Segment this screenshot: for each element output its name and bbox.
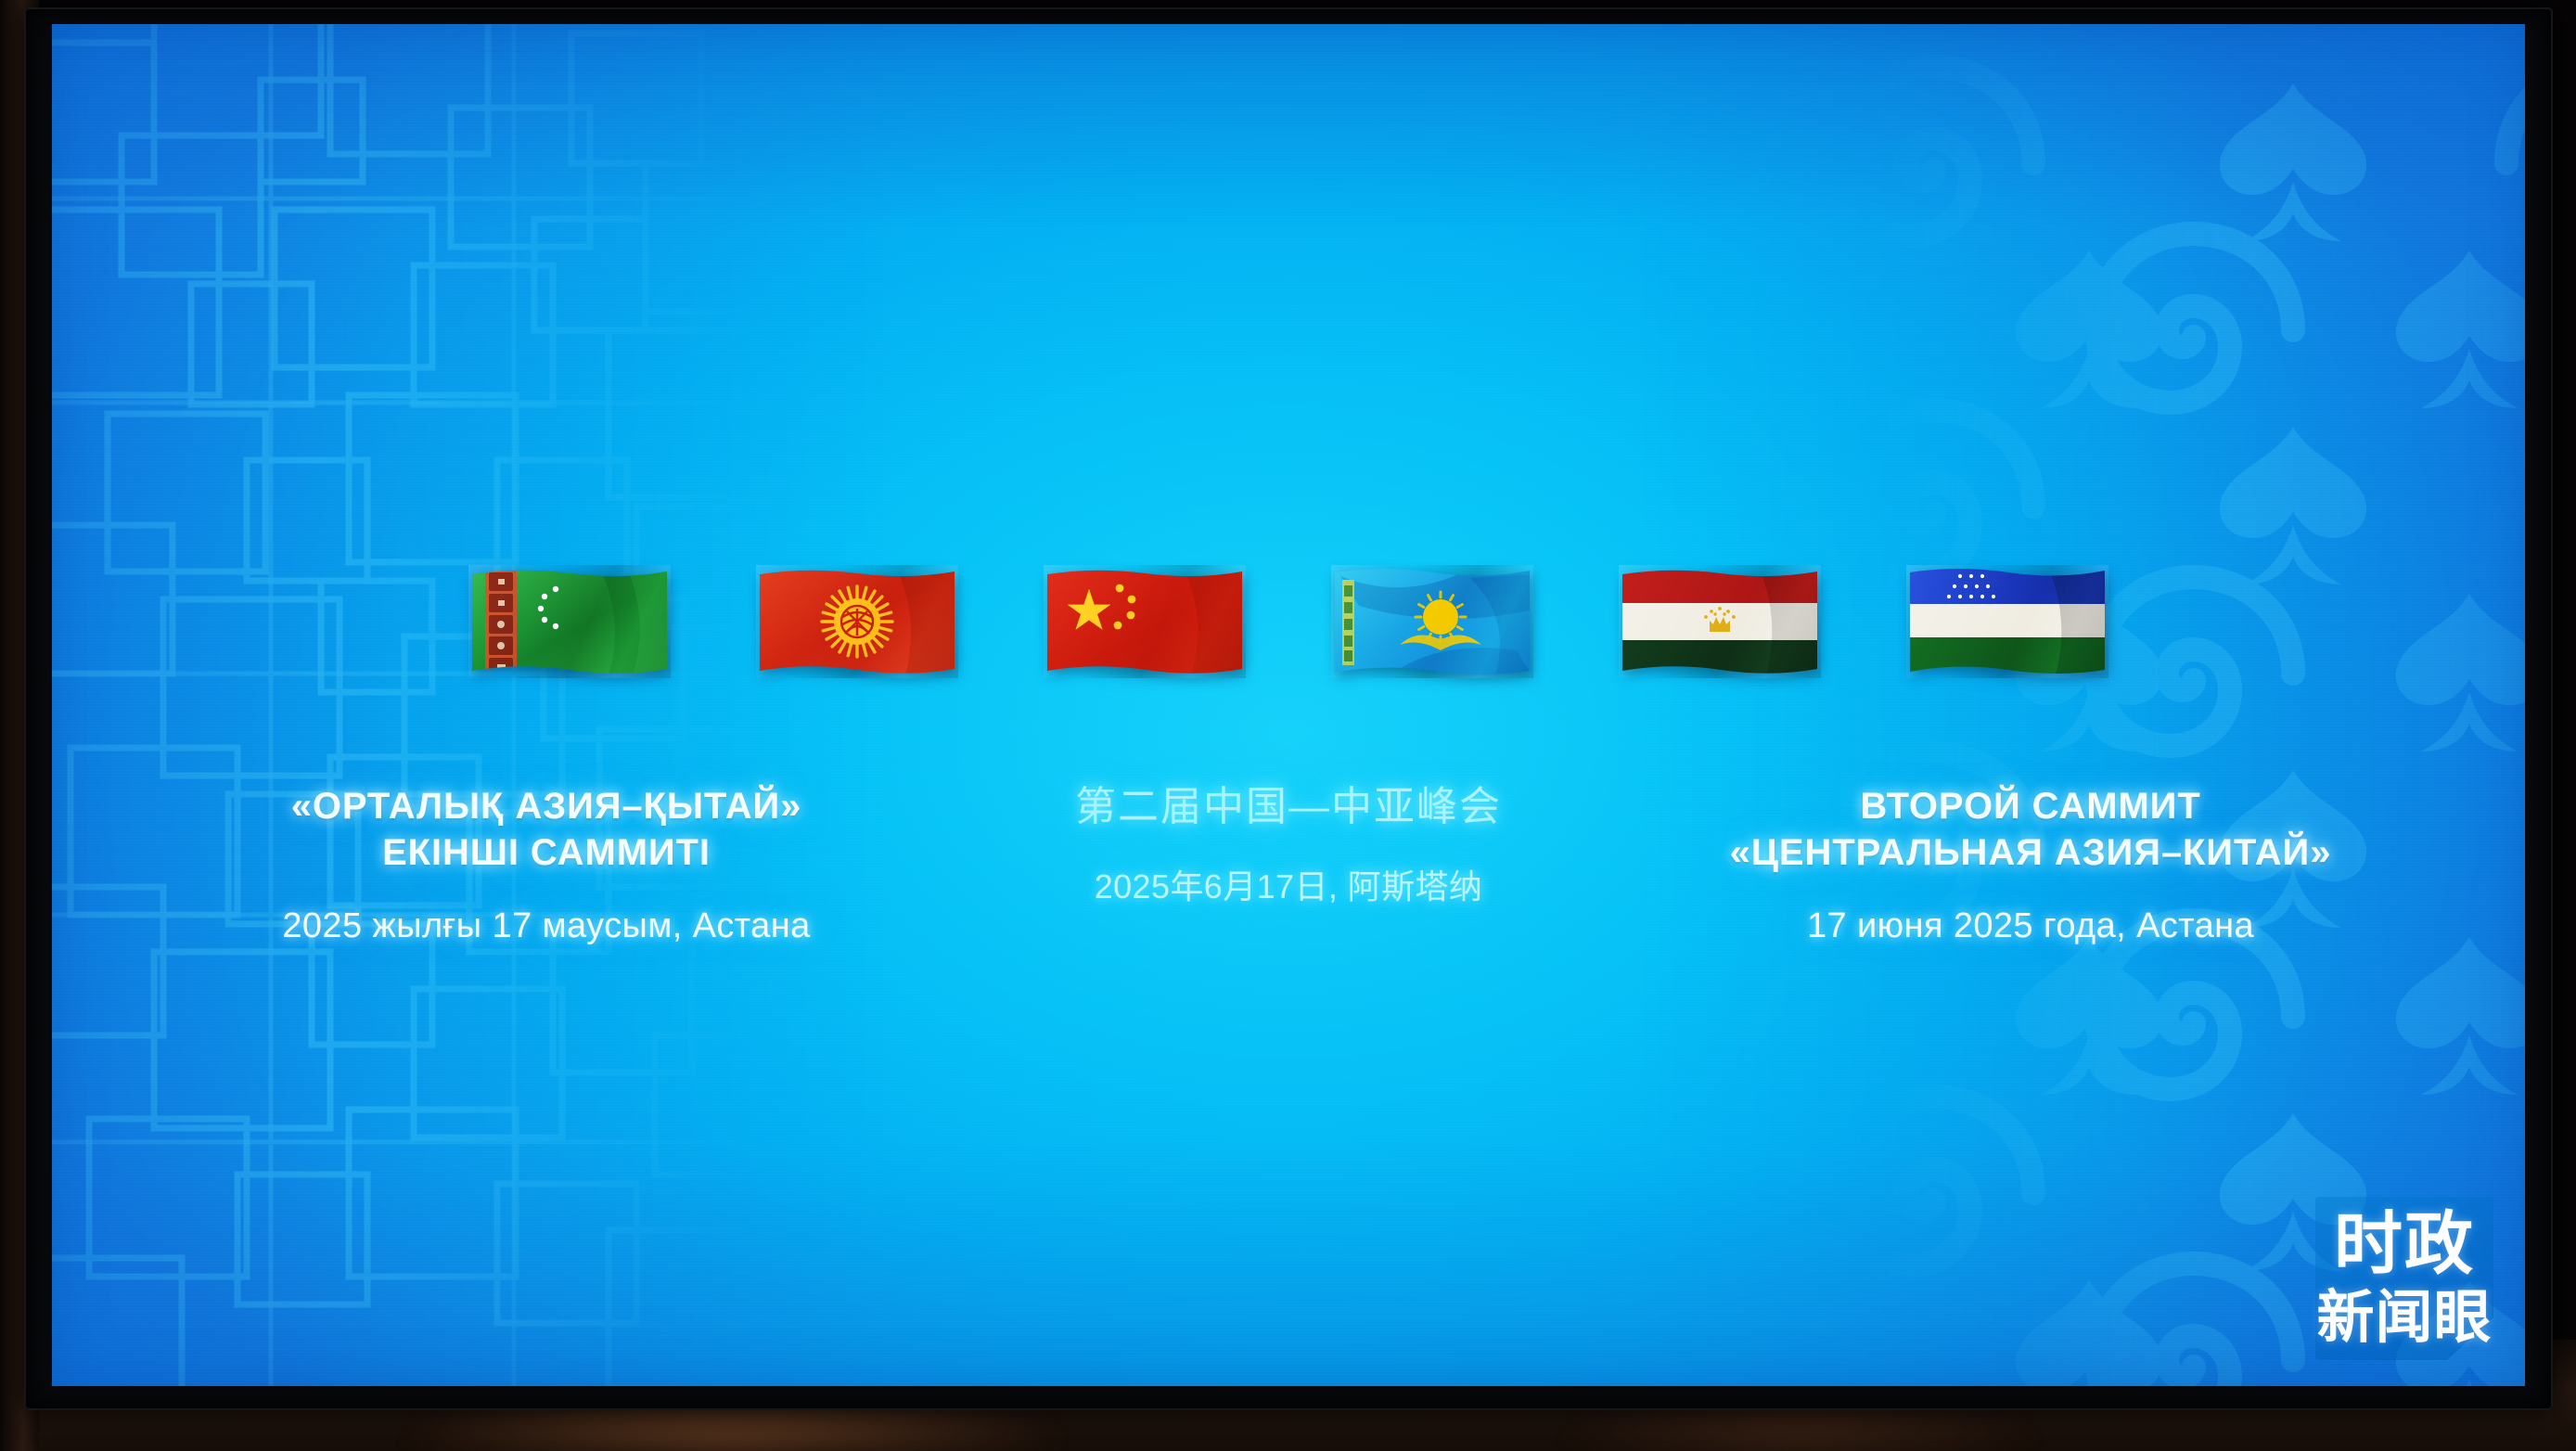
kyrgyzstan-flag [756,565,958,678]
russian-text-column: ВТОРОЙ САММИТ «ЦЕНТРАЛЬНАЯ АЗИЯ–КИТАЙ» 1… [1660,783,2402,946]
chinese-date: 2025年6月17日, 阿斯塔纳 [923,860,1654,908]
russian-title: ВТОРОЙ САММИТ «ЦЕНТРАЛЬНАЯ АЗИЯ–КИТАЙ» [1665,783,2396,877]
russian-title-line1: ВТОРОЙ САММИТ [1665,783,2396,829]
led-scanline-texture [52,24,2525,1386]
china-flag [1044,565,1246,678]
turkmenistan-flag [468,565,671,678]
summit-titles: «ОРТАЛЫҚ АЗИЯ–ҚЫТАЙ» ЕКІНШІ САММИТІ 2025… [52,783,2525,1061]
watermark-line1: 时政 [2315,1197,2493,1278]
tajikistan-flag [1619,565,1821,678]
tv-bezel: «ОРТАЛЫҚ АЗИЯ–ҚЫТАЙ» ЕКІНШІ САММИТІ 2025… [24,7,2553,1410]
chinese-title: 第二届中国—中亚峰会 [923,783,1654,832]
russian-date: 17 июня 2025 года, Астана [1665,906,2396,946]
chinese-text-column: 第二届中国—中亚峰会 2025年6月17日, 阿斯塔纳 [917,783,1660,908]
uzbekistan-flag [1906,565,2108,678]
chinese-title-line1: 第二届中国—中亚峰会 [923,783,1654,832]
room-photo: «ОРТАЛЫҚ АЗИЯ–ҚЫТАЙ» ЕКІНШІ САММИТІ 2025… [0,0,2576,1451]
kazakhstan-flag [1331,565,1533,678]
watermark-line2: 新闻眼 [2315,1278,2493,1347]
kazakh-date: 2025 жылғы 17 маусым, Астана [181,906,912,946]
kazakh-title: «ОРТАЛЫҚ АЗИЯ–ҚЫТАЙ» ЕКІНШІ САММИТІ [181,783,912,877]
flag-row [52,540,2525,703]
kazakh-text-column: «ОРТАЛЫҚ АЗИЯ–ҚЫТАЙ» ЕКІНШІ САММИТІ 2025… [175,783,917,946]
kazakh-title-line2: ЕКІНШІ САММИТІ [181,829,912,876]
led-screen: «ОРТАЛЫҚ АЗИЯ–ҚЫТАЙ» ЕКІНШІ САММИТІ 2025… [52,24,2525,1386]
broadcaster-watermark: 时政 新闻眼 [2315,1197,2493,1360]
kazakh-title-line1: «ОРТАЛЫҚ АЗИЯ–ҚЫТАЙ» [181,783,912,829]
russian-title-line2: «ЦЕНТРАЛЬНАЯ АЗИЯ–КИТАЙ» [1665,829,2396,876]
